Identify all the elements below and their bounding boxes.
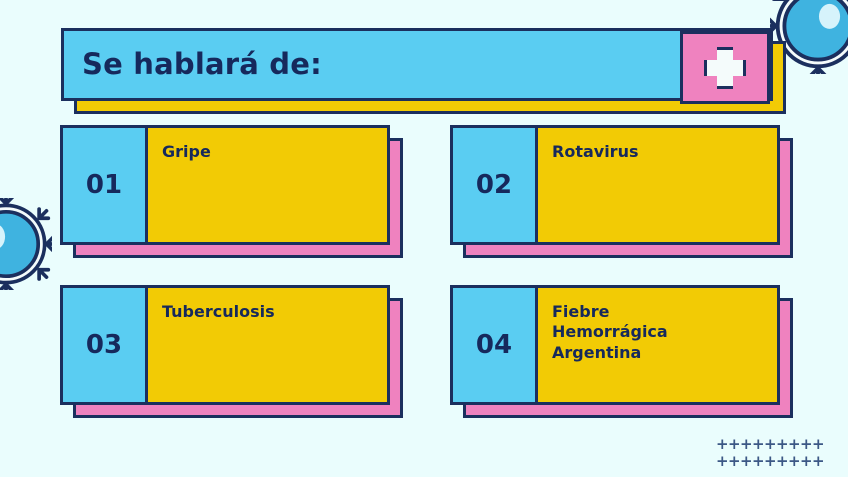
plus-icon: + <box>812 454 821 469</box>
header-banner: Se hablará de: <box>61 28 791 118</box>
list-item[interactable]: 02 Rotavirus <box>450 125 793 258</box>
list-item[interactable]: 03 Tuberculosis <box>60 285 403 418</box>
plus-icon <box>704 47 746 89</box>
plus-icon: + <box>740 437 749 452</box>
card-main: 01 Gripe <box>60 125 390 245</box>
plus-icon: + <box>728 454 737 469</box>
plus-icon: + <box>752 454 761 469</box>
plus-pattern-row: +++++++++ <box>716 454 828 469</box>
card-label: Gripe <box>162 142 377 162</box>
card-body: Tuberculosis <box>148 285 390 405</box>
plus-icon: + <box>752 437 761 452</box>
plus-icon: + <box>800 454 809 469</box>
virus-icon <box>0 198 52 290</box>
card-number: 03 <box>60 285 148 405</box>
page-title: Se hablará de: <box>82 50 322 79</box>
plus-icon: + <box>776 437 785 452</box>
plus-icon: + <box>764 437 773 452</box>
card-main: 02 Rotavirus <box>450 125 780 245</box>
plus-icon: + <box>716 454 725 469</box>
card-number: 01 <box>60 125 148 245</box>
plus-icon: + <box>788 437 797 452</box>
plus-icon: + <box>812 437 821 452</box>
header-plus-badge <box>680 31 770 104</box>
card-body: FiebreHemorrágicaArgentina <box>538 285 780 405</box>
card-label: Rotavirus <box>552 142 767 162</box>
plus-pattern-decoration: ++++++++++++++++++ <box>716 437 828 469</box>
plus-icon: + <box>740 454 749 469</box>
list-item[interactable]: 04 FiebreHemorrágicaArgentina <box>450 285 793 418</box>
header-bar: Se hablará de: <box>61 28 773 101</box>
card-main: 04 FiebreHemorrágicaArgentina <box>450 285 780 405</box>
slide-canvas: Se hablará de: 01 Gripe 02 Rotavirus <box>0 0 848 477</box>
plus-icon: + <box>764 454 773 469</box>
card-number: 02 <box>450 125 538 245</box>
card-body: Rotavirus <box>538 125 780 245</box>
plus-pattern-row: +++++++++ <box>716 437 828 452</box>
card-label: Tuberculosis <box>162 302 377 322</box>
list-item[interactable]: 01 Gripe <box>60 125 403 258</box>
card-number: 04 <box>450 285 538 405</box>
plus-icon: + <box>776 454 785 469</box>
card-label: FiebreHemorrágicaArgentina <box>552 302 767 363</box>
plus-icon-center <box>718 61 732 75</box>
card-main: 03 Tuberculosis <box>60 285 390 405</box>
plus-icon: + <box>716 437 725 452</box>
plus-icon: + <box>800 437 809 452</box>
plus-icon: + <box>728 437 737 452</box>
card-body: Gripe <box>148 125 390 245</box>
plus-icon: + <box>788 454 797 469</box>
